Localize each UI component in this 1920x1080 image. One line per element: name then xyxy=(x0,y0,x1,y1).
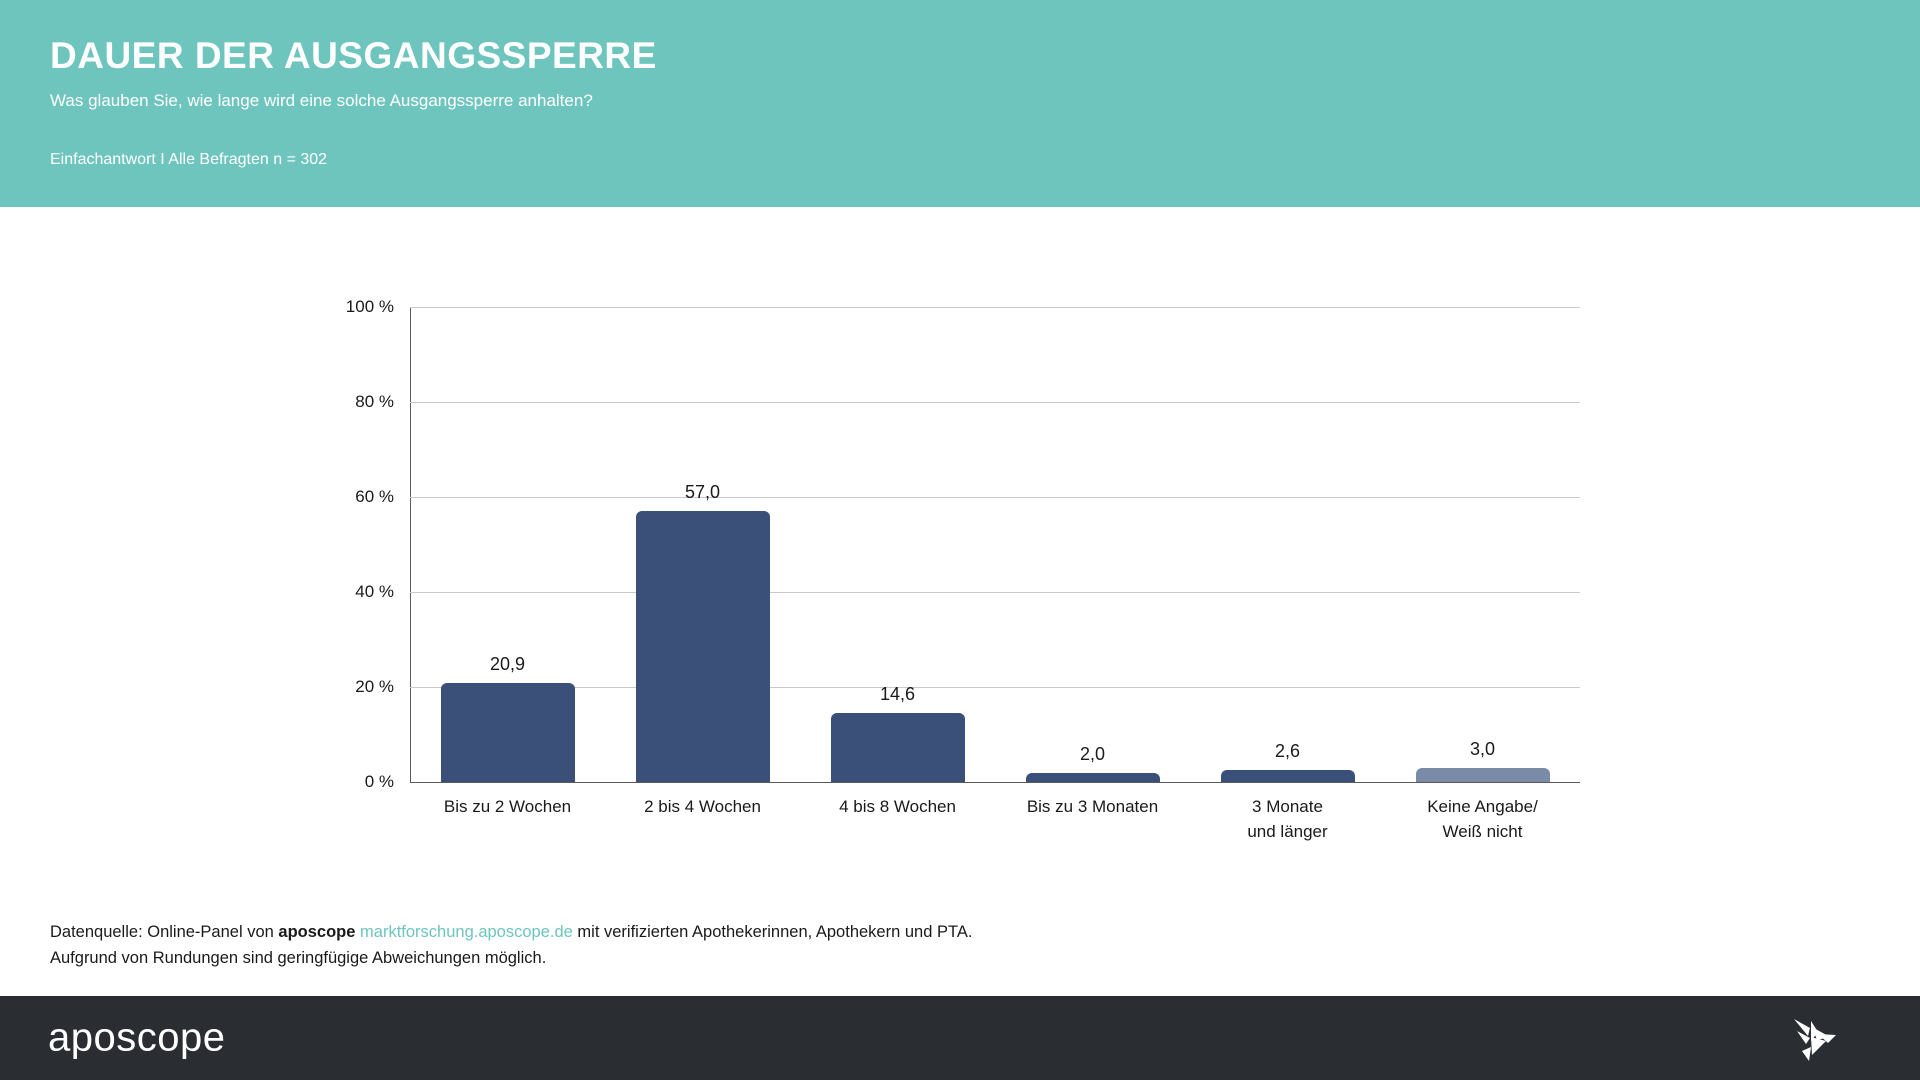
chart-area: 0 %20 %40 %60 %80 %100 % 20,9Bis zu 2 Wo… xyxy=(0,207,1920,907)
y-axis-tick-label: 100 % xyxy=(274,297,394,317)
gridline xyxy=(410,402,1580,403)
gridline xyxy=(410,592,1580,593)
x-axis-category-label: Bis zu 3 Monaten xyxy=(1001,795,1185,820)
bar-value-label: 2,0 xyxy=(1026,744,1160,765)
bar-value-label: 57,0 xyxy=(636,482,770,503)
source-note-line1: Datenquelle: Online-Panel von aposcope m… xyxy=(50,920,972,946)
bar[interactable] xyxy=(1221,770,1355,782)
bar-value-label: 2,6 xyxy=(1221,741,1355,762)
bar-group: 57,02 bis 4 Wochen xyxy=(636,307,770,782)
bar-group: 2,63 Monateund länger xyxy=(1221,307,1355,782)
x-axis-line xyxy=(410,782,1580,783)
x-axis-category-label: 2 bis 4 Wochen xyxy=(611,795,795,820)
bar[interactable] xyxy=(831,713,965,782)
bar-value-label: 3,0 xyxy=(1416,739,1550,760)
brand-bar: aposcope xyxy=(0,996,1920,1080)
source-prefix: Datenquelle: Online-Panel von xyxy=(50,923,278,941)
gridline xyxy=(410,497,1580,498)
bar-group: 2,0Bis zu 3 Monaten xyxy=(1026,307,1160,782)
y-axis-tick-label: 40 % xyxy=(274,582,394,602)
header-basis-note: Einfachantwort I Alle Befragten n = 302 xyxy=(50,151,327,169)
header-subtitle: Was glauben Sie, wie lange wird eine sol… xyxy=(50,91,593,111)
bar-group: 20,9Bis zu 2 Wochen xyxy=(441,307,575,782)
rounding-note: Aufgrund von Rundungen sind geringfügige… xyxy=(50,946,972,972)
source-suffix: mit verifizierten Apothekerinnen, Apothe… xyxy=(573,923,973,941)
bar[interactable] xyxy=(636,511,770,782)
bar-chart-plot: 0 %20 %40 %60 %80 %100 % 20,9Bis zu 2 Wo… xyxy=(410,307,1580,782)
y-axis-tick-label: 20 % xyxy=(274,677,394,697)
source-link[interactable]: marktforschung.aposcope.de xyxy=(360,923,573,941)
x-axis-category-label: Keine Angabe/Weiß nicht xyxy=(1391,795,1575,844)
x-axis-category-label: 3 Monateund länger xyxy=(1196,795,1380,844)
header-banner: DAUER DER AUSGANGSSPERRE Was glauben Sie… xyxy=(0,0,1920,207)
gridline xyxy=(410,687,1580,688)
page-title: DAUER DER AUSGANGSSPERRE xyxy=(50,35,657,77)
bar[interactable] xyxy=(1416,768,1550,782)
x-axis-category-label: Bis zu 2 Wochen xyxy=(416,795,600,820)
y-axis-tick-label: 80 % xyxy=(274,392,394,412)
gridline xyxy=(410,307,1580,308)
aposcope-wordmark: aposcope xyxy=(48,1016,225,1061)
bar[interactable] xyxy=(1026,773,1160,783)
source-brand: aposcope xyxy=(278,923,355,941)
source-note: Datenquelle: Online-Panel von aposcope m… xyxy=(50,920,972,971)
bar-value-label: 20,9 xyxy=(441,654,575,675)
origami-bird-icon xyxy=(1784,1007,1846,1069)
x-axis-category-label: 4 bis 8 Wochen xyxy=(806,795,990,820)
bar-group: 14,64 bis 8 Wochen xyxy=(831,307,965,782)
y-axis-tick-label: 60 % xyxy=(274,487,394,507)
bar[interactable] xyxy=(441,683,575,782)
bar-value-label: 14,6 xyxy=(831,684,965,705)
y-axis-line xyxy=(410,307,411,783)
bar-group: 3,0Keine Angabe/Weiß nicht xyxy=(1416,307,1550,782)
y-axis-tick-label: 0 % xyxy=(274,772,394,792)
